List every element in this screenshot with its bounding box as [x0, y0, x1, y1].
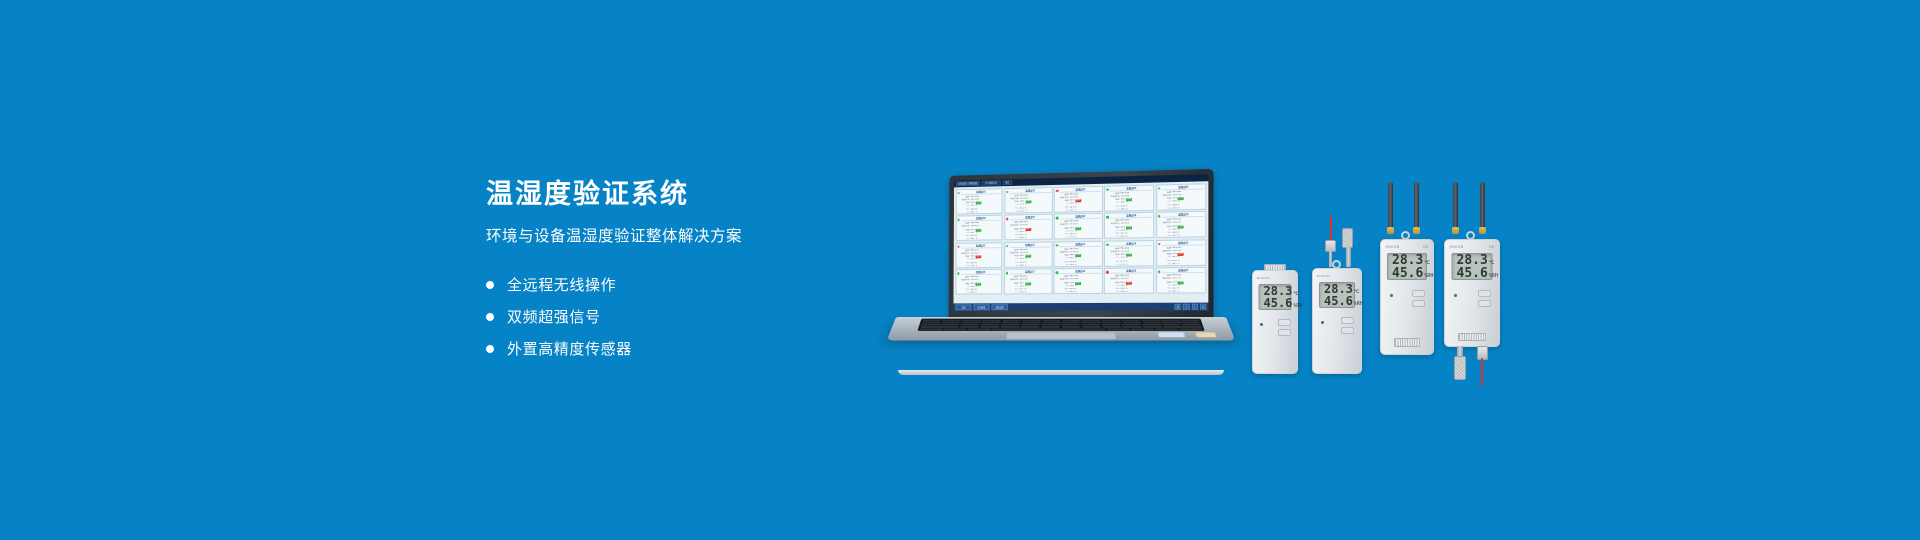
lcd-hum-unit: %RH: [1354, 302, 1363, 307]
card-title: 监测点20: [1162, 269, 1205, 274]
laptop-screen: 实时监控 · 数据采集 历史数据查询 报表 监测点01设备HE-2001采集时间…: [953, 174, 1208, 311]
card-status-led-icon: [1106, 188, 1108, 191]
device-body: ENCON 28.3 ℃ 45.6 %RH: [1252, 270, 1298, 374]
monitor-card[interactable]: 监测点16设备HE-2016采集时间15:22:15电量93%正常T-128.5…: [955, 269, 1003, 295]
card-status-led-icon: [1006, 245, 1008, 247]
card-data-row: T-228.0 ℃: [1110, 208, 1152, 212]
export-report-button[interactable]: 导出报表: [973, 304, 989, 310]
feature-label: 全远程无线操作: [507, 274, 616, 295]
pager-prev-button[interactable]: 上: [1183, 304, 1189, 310]
card-field-value: 30.2 ℃: [1172, 263, 1179, 266]
card-field-label: T-2: [1010, 292, 1019, 295]
device-branding: ENCON H8: [1445, 245, 1499, 249]
lcd-temp-unit: ℃: [1354, 290, 1360, 295]
list-item: 全远程无线操作: [486, 269, 916, 301]
monitor-card[interactable]: 监测点10设备HE-2010采集时间15:22:12电量90%正常T-128.8…: [1156, 211, 1207, 238]
card-field-label: T-2: [1060, 237, 1069, 240]
card-field-value: 28.9 ℃: [1069, 291, 1076, 294]
device-branding: ENCON: [1253, 276, 1297, 280]
page-title: 温湿度验证系统: [486, 178, 916, 210]
device-branding: ENCON H8: [1381, 245, 1433, 249]
card-data-row: T-228.3 ℃: [1110, 235, 1152, 239]
card-status-led-icon: [1158, 215, 1161, 218]
card-field-label: T-2: [1162, 235, 1171, 238]
antenna-base: [1387, 227, 1394, 234]
monitor-card[interactable]: 监测点06设备HE-2006采集时间15:22:10电量97%正常T-128.2…: [955, 215, 1003, 241]
product-banner: 温湿度验证系统 环境与设备温湿度验证整体解决方案 全远程无线操作 双频超强信号 …: [0, 0, 1920, 540]
laptop-base: [887, 317, 1236, 341]
antenna-base: [1479, 227, 1486, 234]
card-data-row: T-228.8 ℃: [1060, 264, 1101, 267]
device-up-button[interactable]: [1341, 317, 1354, 324]
list-item: 外置高精度传感器: [486, 333, 916, 365]
app-bottom-toolbar: 开始 导出报表 参数设置 首 上 下 末: [953, 303, 1208, 312]
device-wireless-sensor-right: ENCON H8 28.3 ℃ 45.6 %RH: [1444, 182, 1500, 394]
monitor-card[interactable]: 监测点20设备HE-2020采集时间15:22:17电量97%正常T-128.3…: [1156, 267, 1207, 294]
card-data-row: T-227.8 ℃: [1010, 210, 1051, 214]
laptop-trackpad[interactable]: [1005, 332, 1116, 339]
lcd-hum-unit: %RH: [1293, 304, 1302, 309]
monitor-card[interactable]: 监测点03设备HE-2003采集时间15:22:09电量93%超限T-129.4…: [1054, 185, 1103, 212]
lcd-hum-value: 45.6: [1324, 295, 1353, 307]
card-title: 监测点11: [961, 244, 1001, 249]
banner-copy: 温湿度验证系统 环境与设备温湿度验证整体解决方案 全远程无线操作 双频超强信号 …: [486, 178, 916, 365]
monitor-card[interactable]: 监测点14设备HE-2014采集时间15:22:14电量96%正常T-127.5…: [1104, 240, 1154, 267]
device-logger-compact: ENCON 28.3 ℃ 45.6 %RH: [1252, 264, 1298, 374]
card-field-value: 28.2 ℃: [1172, 291, 1179, 294]
device-up-button[interactable]: [1412, 290, 1425, 297]
lcd-temp-unit: ℃: [1424, 261, 1430, 266]
tab-history[interactable]: 历史数据查询: [982, 180, 1000, 185]
card-field-label: T-2: [1060, 209, 1069, 212]
card-status-led-icon: [1056, 217, 1058, 220]
card-data-row: T-228.2 ℃: [1162, 291, 1205, 294]
card-field-label: T-2: [1060, 264, 1069, 267]
antenna-icon: [1480, 182, 1485, 230]
card-field-value: 29.6 ℃: [970, 265, 977, 268]
device-down-button[interactable]: [1278, 329, 1291, 336]
lcd-hum-line: 45.6 %RH: [1457, 267, 1488, 280]
card-field-label: T-2: [1162, 263, 1171, 266]
antenna-base: [1413, 227, 1420, 234]
lcd-hum-line: 45.6 %RH: [1324, 295, 1350, 307]
monitor-card[interactable]: 监测点09设备HE-2009采集时间15:22:12电量92%正常T-128.4…: [1104, 212, 1154, 239]
card-data-row: T-229.8 ℃: [1110, 291, 1152, 294]
card-field-value: 27.8 ℃: [1020, 210, 1027, 213]
card-field-label: T-2: [1162, 291, 1171, 294]
pager-first-button[interactable]: 首: [1175, 304, 1181, 310]
device-up-button[interactable]: [1278, 319, 1291, 326]
card-field-value: 29.2 ℃: [1070, 209, 1077, 212]
probe-stem: [1346, 247, 1351, 267]
device-wireless-sensor-left: ENCON H8 28.3 ℃ 45.6 %RH: [1380, 182, 1434, 376]
tab-report[interactable]: 报表: [1002, 180, 1012, 185]
probe-wire: [1330, 216, 1332, 242]
lcd-hum-line: 45.6 %RH: [1264, 297, 1287, 309]
card-title: 监测点12: [1010, 243, 1051, 248]
card-status-led-icon: [1056, 189, 1058, 192]
lcd-hum-unit: %RH: [1424, 274, 1433, 279]
status-led-icon: [1321, 321, 1324, 324]
card-status-led-icon: [957, 192, 959, 194]
probe-mesh-filter: [1342, 228, 1353, 248]
keyboard-row: [922, 322, 1200, 323]
card-field-label: T-2: [1162, 207, 1171, 210]
monitor-card[interactable]: 监测点07设备HE-2007采集时间15:22:11电量88%超限T-130.1…: [1004, 214, 1052, 240]
monitor-card[interactable]: 监测点15设备HE-2015采集时间15:22:15电量87%超限T-130.3…: [1156, 239, 1207, 266]
card-title: 监测点13: [1060, 242, 1101, 247]
card-field-label: T-2: [1010, 264, 1019, 267]
card-field-label: T-2: [1110, 236, 1119, 239]
card-status-led-icon: [1158, 270, 1161, 273]
card-data-row: T-228.7 ℃: [1162, 234, 1205, 238]
monitor-card-grid: 监测点01设备HE-2001采集时间15:22:08电量98%正常T-128.3…: [953, 181, 1208, 303]
lcd-temp-unit: ℃: [1489, 261, 1495, 266]
deck-sticker-blue: [1157, 332, 1185, 337]
lcd-hum-value: 45.6: [1392, 267, 1423, 280]
card-field-label: T-2: [1110, 291, 1119, 294]
keyboard-row: [920, 329, 1203, 330]
lcd-display: 28.3 ℃ 45.6 %RH: [1259, 284, 1292, 310]
card-data-row: T-230.2 ℃: [1162, 262, 1205, 265]
antenna-icon: [1414, 182, 1419, 230]
probe-wire: [1481, 358, 1483, 386]
device-down-button[interactable]: [1341, 327, 1354, 334]
card-field-label: T-2: [1110, 263, 1119, 266]
start-button[interactable]: 开始: [955, 304, 971, 310]
monitor-card[interactable]: 监测点05设备HE-2005采集时间15:22:10电量91%正常T-128.6…: [1156, 183, 1207, 210]
card-data-row: T-228.2 ℃: [961, 238, 1001, 241]
card-status-led-icon: [1006, 218, 1008, 221]
card-title: 监测点15: [1162, 241, 1205, 246]
vent-grill-icon: [1458, 333, 1486, 341]
vent-grill-icon: [1394, 338, 1420, 347]
card-field-label: T-2: [961, 238, 970, 241]
card-status-led-icon: [957, 245, 959, 247]
card-data-row: T-228.1 ℃: [1010, 291, 1051, 294]
laptop-illustration: 实时监控 · 数据采集 历史数据查询 报表 监测点01设备HE-2001采集时间…: [896, 172, 1226, 372]
card-status-led-icon: [1056, 244, 1058, 247]
feature-label: 双频超强信号: [507, 306, 601, 327]
card-field-value: 28.2 ℃: [971, 238, 978, 241]
card-title: 监测点18: [1060, 270, 1101, 275]
lcd-display: 28.3 ℃ 45.6 %RH: [1387, 253, 1427, 280]
card-field-value: 28.7 ℃: [1172, 235, 1179, 238]
card-status-led-icon: [1056, 271, 1058, 274]
lcd-display: 28.3 ℃ 45.6 %RH: [1319, 282, 1355, 308]
card-status-led-icon: [1106, 271, 1108, 274]
bullet-dot-icon: [486, 313, 494, 321]
probe-mesh-filter: [1454, 356, 1466, 380]
monitor-card[interactable]: 监测点19设备HE-2019采集时间15:22:17电量86%超限T-129.9…: [1104, 267, 1154, 294]
card-field-value: 29.8 ℃: [1120, 291, 1127, 294]
card-status-led-icon: [1106, 243, 1108, 246]
card-data-row: T-229.6 ℃: [961, 265, 1001, 268]
keyboard-row: [920, 326, 1201, 327]
card-field-label: T-2: [961, 211, 970, 214]
lcd-temp-unit: ℃: [1293, 292, 1299, 297]
lcd-hum-unit: %RH: [1489, 274, 1498, 279]
card-data-row: T-228.4 ℃: [961, 292, 1001, 295]
bullet-dot-icon: [486, 345, 494, 353]
device-up-button[interactable]: [1478, 290, 1491, 297]
device-down-button[interactable]: [1412, 300, 1425, 307]
card-title: 监测点17: [1010, 270, 1051, 275]
keyboard-row: [922, 320, 1199, 321]
card-status-led-icon: [957, 218, 959, 220]
device-button-group[interactable]: [1341, 317, 1354, 334]
lcd-display: 28.3 ℃ 45.6 %RH: [1452, 253, 1493, 280]
card-field-value: 27.6 ℃: [1070, 236, 1077, 239]
device-branding: ENCON: [1313, 274, 1361, 278]
monitor-card[interactable]: 监测点17设备HE-2017采集时间15:22:16电量99%正常T-128.2…: [1004, 268, 1052, 294]
device-button-group[interactable]: [1278, 319, 1291, 336]
card-field-value: 28.3 ℃: [1121, 236, 1128, 239]
lcd-hum-value: 45.6: [1264, 297, 1293, 309]
monitor-card[interactable]: 监测点04设备HE-2004采集时间15:22:09电量99%正常T-128.0…: [1104, 184, 1154, 211]
bullet-dot-icon: [486, 281, 494, 289]
tab-realtime[interactable]: 实时监控 · 数据采集: [956, 181, 980, 186]
card-data-row: T-228.1 ℃: [961, 211, 1001, 215]
card-status-led-icon: [1158, 187, 1161, 190]
device-body: ENCON H8 28.3 ℃ 45.6 %RH: [1380, 239, 1434, 355]
card-field-value: 30.0 ℃: [1020, 237, 1027, 240]
status-led-icon: [1260, 323, 1263, 326]
page-subtitle: 环境与设备温湿度验证整体解决方案: [486, 227, 916, 247]
card-data-row: T-229.2 ℃: [1060, 209, 1101, 213]
lcd-temp-value: 28.3: [1392, 254, 1423, 267]
status-led-icon: [1454, 294, 1457, 297]
card-status-led-icon: [1006, 272, 1008, 274]
card-data-row: T-230.0 ℃: [1010, 237, 1051, 240]
toolbar-action-group: 开始 导出报表 参数设置: [955, 304, 1008, 310]
card-field-label: T-2: [1110, 208, 1119, 211]
card-field-value: 28.1 ℃: [971, 211, 978, 214]
card-field-label: T-2: [1059, 291, 1068, 294]
card-status-led-icon: [957, 272, 959, 274]
lcd-temp-value: 28.3: [1457, 254, 1488, 267]
card-status-led-icon: [1006, 190, 1008, 193]
card-title: 监测点14: [1110, 242, 1152, 247]
device-button-group[interactable]: [1412, 290, 1425, 307]
monitor-card[interactable]: 监测点01设备HE-2001采集时间15:22:08电量98%正常T-128.3…: [955, 188, 1002, 214]
deck-sticker-gold: [1194, 332, 1217, 337]
card-field-label: T-2: [1010, 237, 1019, 240]
settings-button[interactable]: 参数设置: [991, 304, 1007, 310]
device-down-button[interactable]: [1478, 300, 1491, 307]
card-field-value: 28.0 ℃: [1020, 264, 1027, 267]
laptop-lid: 实时监控 · 数据采集 历史数据查询 报表 监测点01设备HE-2001采集时间…: [949, 169, 1214, 322]
feature-label: 外置高精度传感器: [507, 338, 632, 359]
device-body: ENCON H8 28.3 ℃ 45.6 %RH: [1444, 239, 1500, 347]
feature-list: 全远程无线操作 双频超强信号 外置高精度传感器: [486, 269, 916, 365]
card-data-row: T-227.6 ℃: [1060, 236, 1101, 239]
antenna-icon: [1388, 182, 1393, 230]
card-field-label: T-2: [961, 265, 970, 268]
lcd-hum-value: 45.6: [1457, 267, 1488, 280]
pager-next-button[interactable]: 下: [1191, 304, 1197, 310]
lcd-hum-line: 45.6 %RH: [1392, 267, 1422, 280]
monitor-card[interactable]: 监测点08设备HE-2008采集时间15:22:11电量95%正常T-127.7…: [1054, 213, 1103, 240]
antenna-base: [1452, 227, 1459, 234]
card-field-value: 28.0 ℃: [1121, 208, 1128, 211]
monitor-card[interactable]: 监测点12设备HE-2012采集时间15:22:13电量98%正常T-128.1…: [1004, 241, 1052, 267]
card-field-value: 28.4 ℃: [970, 292, 977, 295]
card-field-value: 27.4 ℃: [1120, 263, 1127, 266]
keyboard-row: [921, 324, 1201, 325]
card-data-row: T-228.0 ℃: [1010, 264, 1051, 267]
lcd-temp-line: 28.3 ℃: [1392, 254, 1422, 267]
card-title: 监测点16: [961, 271, 1001, 276]
monitor-card[interactable]: 监测点13设备HE-2013采集时间15:22:14电量89%正常T-128.9…: [1054, 240, 1103, 267]
monitor-card[interactable]: 监测点18设备HE-2018采集时间15:22:16电量91%正常T-129.0…: [1054, 268, 1103, 294]
card-field-value: 28.8 ℃: [1070, 264, 1077, 267]
laptop-keyboard[interactable]: [918, 319, 1204, 331]
status-led-icon: [1390, 294, 1393, 297]
card-data-row: T-228.5 ℃: [1162, 206, 1205, 210]
card-status-led-icon: [1106, 216, 1108, 219]
laptop-front-lip: [898, 370, 1224, 375]
monitor-card[interactable]: 监测点11设备HE-2011采集时间15:22:13电量94%超限T-129.7…: [955, 242, 1003, 268]
card-field-value: 28.5 ℃: [1172, 207, 1179, 210]
pager-group: 首 上 下 末: [1175, 304, 1207, 310]
card-field-label: T-2: [1010, 210, 1019, 213]
card-data-row: T-228.9 ℃: [1059, 291, 1100, 294]
card-status-led-icon: [1158, 242, 1161, 245]
list-item: 双频超强信号: [486, 301, 916, 333]
antenna-icon: [1453, 182, 1458, 230]
device-logger-external-probe: ENCON 28.3 ℃ 45.6 %RH: [1312, 216, 1362, 374]
pager-last-button[interactable]: 末: [1200, 304, 1206, 310]
device-body: ENCON 28.3 ℃ 45.6 %RH: [1312, 268, 1362, 374]
card-title: 监测点19: [1110, 269, 1152, 274]
card-field-label: T-2: [961, 292, 970, 295]
monitor-card[interactable]: 监测点02设备HE-2002采集时间15:22:08电量96%正常T-127.9…: [1004, 186, 1052, 213]
lcd-temp-line: 28.3 ℃: [1457, 254, 1488, 267]
device-button-group[interactable]: [1478, 290, 1491, 307]
card-field-value: 28.1 ℃: [1019, 292, 1026, 295]
card-data-row: T-227.4 ℃: [1110, 263, 1152, 266]
